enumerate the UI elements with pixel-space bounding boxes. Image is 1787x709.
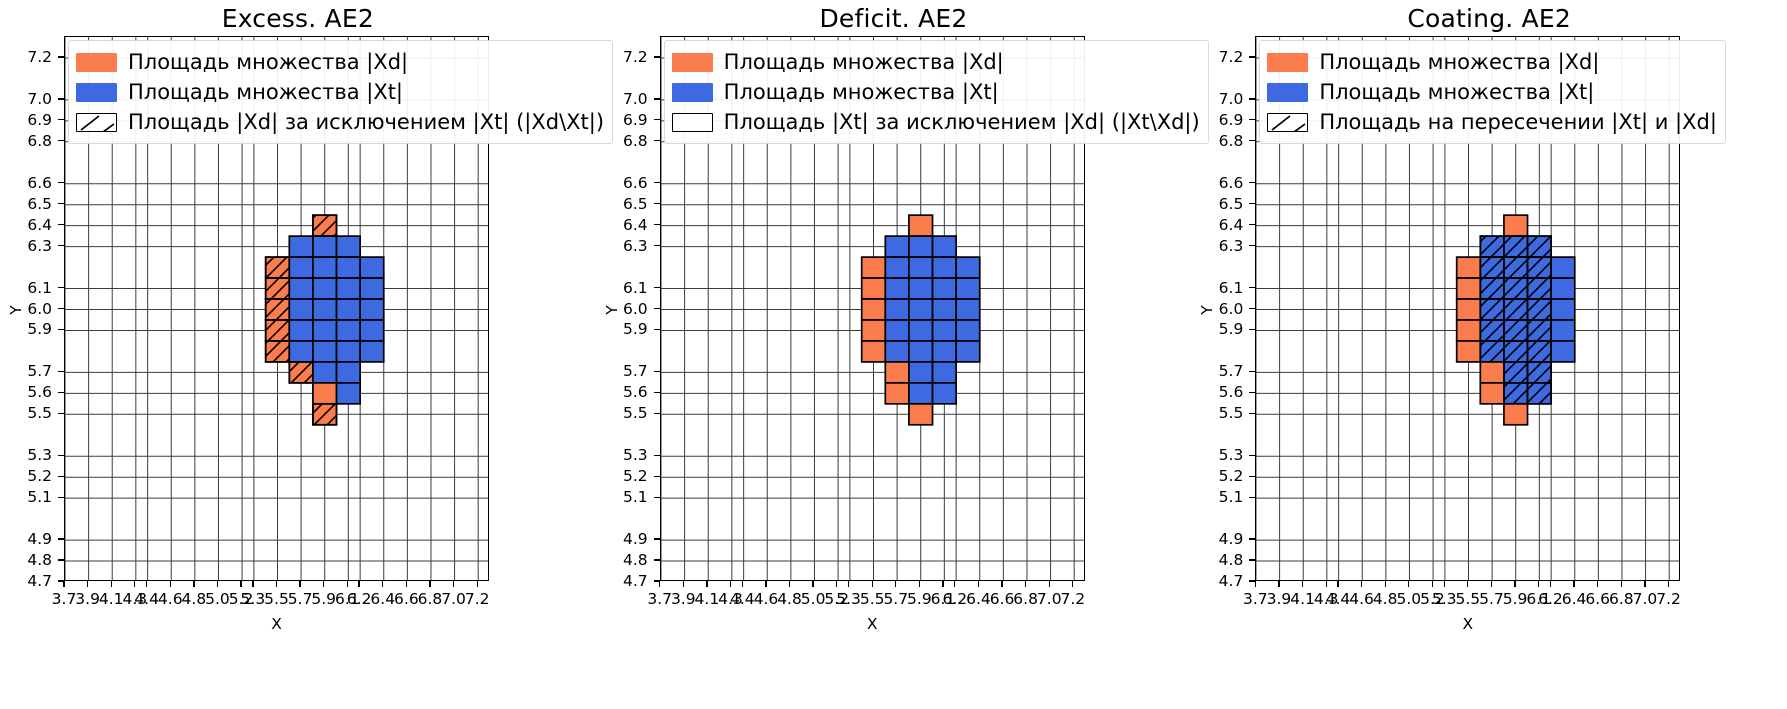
y-axis-tick-mark — [58, 203, 64, 204]
x-axis-tick-mark — [240, 581, 241, 587]
x-axis-tick-label: 4.1 — [99, 590, 124, 608]
y-axis-tick-mark — [58, 538, 64, 539]
y-axis-tick-label: 5.3 — [0, 446, 52, 464]
y-axis-tick-mark — [1249, 559, 1255, 560]
y-axis-tick-label: 6.3 — [1191, 237, 1243, 255]
x-axis-tick-mark — [217, 581, 218, 587]
y-axis-tick-mark — [654, 182, 660, 183]
y-axis-tick-label: 6.6 — [0, 174, 52, 192]
y-axis-tick-label: 6.1 — [596, 279, 648, 297]
x-axis-tick-mark — [1072, 581, 1073, 587]
y-axis-tick-mark — [654, 245, 660, 246]
y-axis-tick-label: 7.2 — [0, 48, 52, 66]
y-axis-tick-mark — [654, 98, 660, 99]
legend-hatch-swatch — [76, 113, 117, 132]
x-axis-tick-label: 4.1 — [695, 590, 720, 608]
legend: Площадь множества |Xd|Площадь множества … — [68, 40, 613, 144]
y-axis-tick-label: 7.0 — [0, 90, 52, 108]
x-axis-tick-mark — [63, 581, 64, 587]
y-axis-tick-mark — [1249, 329, 1255, 330]
y-axis-tick-label: 5.2 — [596, 467, 648, 485]
y-axis-tick-mark — [654, 203, 660, 204]
x-axis-tick-label: 5.3 — [241, 590, 266, 608]
x-axis-tick-mark — [742, 581, 743, 587]
y-axis-tick-label: 5.1 — [1191, 488, 1243, 506]
y-axis-tick-mark — [1249, 245, 1255, 246]
y-axis-tick-label: 4.9 — [596, 530, 648, 548]
legend-label: Площадь множества |Xt| — [1319, 82, 1594, 103]
x-axis-tick-label: 6.4 — [370, 590, 395, 608]
x-axis-tick-label: 6.2 — [942, 590, 967, 608]
x-axis-label: X — [257, 615, 297, 633]
y-axis-tick-mark — [58, 559, 64, 560]
y-axis-tick-label: 5.3 — [1191, 446, 1243, 464]
x-axis-tick-mark — [1491, 581, 1492, 587]
x-axis-tick-label: 4.4 — [134, 590, 159, 608]
x-axis-tick-mark — [453, 581, 454, 587]
x-axis-tick-label: 5.3 — [836, 590, 861, 608]
legend-label: Площадь множества |Xt| — [128, 82, 403, 103]
y-axis-tick-label: 6.3 — [596, 237, 648, 255]
y-axis-tick-mark — [654, 308, 660, 309]
legend-entry[interactable]: Площадь множества |Xt| — [672, 77, 1200, 107]
y-axis-tick-label: 4.7 — [0, 572, 52, 590]
y-axis-tick-label: 5.6 — [0, 383, 52, 401]
x-axis-tick-mark — [406, 581, 407, 587]
y-axis-tick-label: 4.8 — [0, 551, 52, 569]
x-axis-tick-mark — [919, 581, 920, 587]
x-axis-tick-mark — [358, 581, 359, 587]
legend-color-swatch — [672, 53, 713, 72]
x-axis-tick-mark — [1597, 581, 1598, 587]
legend-entry[interactable]: Площадь на пересечении |Xt| и |Xd| — [1267, 107, 1717, 137]
legend: Площадь множества |Xd|Площадь множества … — [664, 40, 1209, 144]
legend-label: Площадь |Xd| за исключением |Xt| (|Xd\Xt… — [128, 112, 604, 133]
y-axis-tick-mark — [654, 224, 660, 225]
x-axis-tick-mark — [134, 581, 135, 587]
x-axis-tick-label: 6.6 — [394, 590, 419, 608]
y-axis-tick-label: 7.2 — [1191, 48, 1243, 66]
legend-color-swatch — [76, 83, 117, 102]
y-axis-tick-mark — [58, 140, 64, 141]
y-axis-tick-mark — [58, 476, 64, 477]
chart-panel-2: Deficit. AE27.27.06.96.86.66.56.46.36.16… — [596, 0, 1192, 709]
x-axis-tick-mark — [812, 581, 813, 587]
x-axis-tick-label: 6.2 — [1538, 590, 1563, 608]
y-axis-tick-label: 5.6 — [596, 383, 648, 401]
x-axis-tick-mark — [1255, 581, 1256, 587]
y-axis-tick-mark — [654, 392, 660, 393]
y-axis-tick-mark — [58, 182, 64, 183]
chart-panel-1: Excess. AE27.27.06.96.86.66.56.46.36.16.… — [0, 0, 596, 709]
legend-label: Площадь на пересечении |Xt| и |Xd| — [1319, 112, 1717, 133]
y-axis-tick-mark — [58, 413, 64, 414]
y-axis-tick-label: 7.2 — [596, 48, 648, 66]
legend: Площадь множества |Xd|Площадь множества … — [1259, 40, 1726, 144]
x-axis-tick-mark — [347, 581, 348, 587]
legend-label: Площадь |Xt| за исключением |Xd| (|Xt\Xd… — [724, 112, 1200, 133]
x-axis-tick-label: 7.0 — [441, 590, 466, 608]
y-axis-tick-mark — [1249, 287, 1255, 288]
x-axis-tick-label: 4.6 — [158, 590, 183, 608]
y-axis-tick-mark — [654, 329, 660, 330]
y-axis-tick-mark — [58, 224, 64, 225]
x-axis-tick-mark — [1326, 581, 1327, 587]
x-axis-tick-label: 5.5 — [860, 590, 885, 608]
x-axis-tick-label: 5.9 — [311, 590, 336, 608]
x-axis-tick-label: 7.0 — [1633, 590, 1658, 608]
x-axis-tick-mark — [1278, 581, 1279, 587]
y-axis-tick-mark — [58, 497, 64, 498]
x-axis-tick-label: 6.8 — [1013, 590, 1038, 608]
y-axis-tick-mark — [58, 308, 64, 309]
x-axis-tick-mark — [1550, 581, 1551, 587]
x-axis-label: X — [852, 615, 892, 633]
x-axis-tick-mark — [1001, 581, 1002, 587]
x-axis-tick-label: 6.8 — [1609, 590, 1634, 608]
x-axis-tick-label: 3.9 — [75, 590, 100, 608]
figure-canvas: Excess. AE27.27.06.96.86.66.56.46.36.16.… — [0, 0, 1787, 709]
y-axis-tick-mark — [1249, 182, 1255, 183]
y-axis-tick-mark — [654, 56, 660, 57]
y-axis-tick-mark — [1249, 140, 1255, 141]
y-axis-tick-label: 5.1 — [0, 488, 52, 506]
y-axis-tick-label: 6.1 — [0, 279, 52, 297]
x-axis-tick-label: 4.1 — [1290, 590, 1315, 608]
y-axis-tick-label: 5.7 — [1191, 362, 1243, 380]
legend-entry[interactable]: Площадь множества |Xt| — [76, 77, 604, 107]
x-axis-tick-mark — [429, 581, 430, 587]
x-axis-tick-mark — [323, 581, 324, 587]
x-axis-tick-label: 3.7 — [52, 590, 77, 608]
x-axis-tick-mark — [836, 581, 837, 587]
y-axis-tick-label: 5.9 — [596, 320, 648, 338]
x-axis-tick-label: 3.7 — [1243, 590, 1268, 608]
y-axis-tick-mark — [58, 455, 64, 456]
x-axis-tick-mark — [1621, 581, 1622, 587]
y-axis-tick-mark — [1249, 203, 1255, 204]
y-axis-tick-mark — [1249, 392, 1255, 393]
x-axis-tick-label: 4.4 — [1326, 590, 1351, 608]
legend-color-swatch — [1267, 53, 1308, 72]
y-axis-tick-label: 6.4 — [0, 216, 52, 234]
y-axis-tick-label: 5.7 — [0, 362, 52, 380]
y-axis-tick-label: 4.9 — [1191, 530, 1243, 548]
x-axis-tick-mark — [789, 581, 790, 587]
y-axis-tick-mark — [1249, 224, 1255, 225]
y-axis-tick-label: 6.9 — [0, 111, 52, 129]
y-axis-tick-mark — [1249, 98, 1255, 99]
x-axis-tick-label: 6.6 — [1585, 590, 1610, 608]
x-axis-tick-mark — [683, 581, 684, 587]
panel-title: Coating. AE2 — [1191, 4, 1787, 33]
x-axis-tick-mark — [1361, 581, 1362, 587]
x-axis-tick-mark — [252, 581, 253, 587]
x-axis-tick-label: 6.6 — [990, 590, 1015, 608]
y-axis-tick-label: 7.0 — [1191, 90, 1243, 108]
legend-entry[interactable]: Площадь |Xd| за исключением |Xt| (|Xd\Xt… — [76, 107, 604, 137]
y-axis-tick-label: 5.6 — [1191, 383, 1243, 401]
x-axis-tick-mark — [1432, 581, 1433, 587]
x-axis-tick-mark — [706, 581, 707, 587]
x-axis-tick-mark — [848, 581, 849, 587]
x-axis-tick-label: 3.9 — [671, 590, 696, 608]
x-axis-tick-label: 4.8 — [777, 590, 802, 608]
y-axis-label: Y — [1198, 300, 1216, 320]
y-axis-tick-label: 4.7 — [1191, 572, 1243, 590]
x-axis-tick-label: 3.9 — [1267, 590, 1292, 608]
y-axis-tick-label: 6.3 — [0, 237, 52, 255]
y-axis-tick-mark — [654, 119, 660, 120]
legend-color-swatch — [76, 53, 117, 72]
x-axis-tick-label: 5.7 — [288, 590, 313, 608]
x-axis-tick-mark — [87, 581, 88, 587]
y-axis-tick-label: 6.1 — [1191, 279, 1243, 297]
legend-hatch-swatch — [672, 113, 713, 132]
legend-entry[interactable]: Площадь множества |Xt| — [1267, 77, 1717, 107]
x-axis-tick-mark — [954, 581, 955, 587]
panel-title: Excess. AE2 — [0, 4, 596, 33]
y-axis-tick-label: 6.9 — [596, 111, 648, 129]
y-axis-tick-mark — [1249, 538, 1255, 539]
x-axis-tick-mark — [193, 581, 194, 587]
x-axis-tick-label: 5.9 — [1503, 590, 1528, 608]
y-axis-tick-label: 5.5 — [596, 404, 648, 422]
x-axis-tick-label: 5.0 — [1396, 590, 1421, 608]
y-axis-tick-label: 4.7 — [596, 572, 648, 590]
x-axis-tick-label: 5.9 — [907, 590, 932, 608]
legend-entry[interactable]: Площадь множества |Xd| — [1267, 47, 1717, 77]
x-axis-tick-mark — [276, 581, 277, 587]
y-axis-tick-label: 4.9 — [0, 530, 52, 548]
y-axis-tick-label: 5.2 — [1191, 467, 1243, 485]
y-axis-tick-mark — [58, 371, 64, 372]
x-axis-tick-label: 7.0 — [1037, 590, 1062, 608]
y-axis-tick-mark — [58, 287, 64, 288]
y-axis-tick-mark — [1249, 455, 1255, 456]
y-axis-tick-label: 5.5 — [1191, 404, 1243, 422]
y-axis-tick-label: 5.1 — [596, 488, 648, 506]
x-axis-tick-mark — [1573, 581, 1574, 587]
legend-label: Площадь множества |Xd| — [128, 52, 408, 73]
y-axis-tick-mark — [58, 56, 64, 57]
y-axis-tick-label: 6.5 — [0, 195, 52, 213]
legend-label: Площадь множества |Xd| — [1319, 52, 1599, 73]
y-axis-tick-mark — [654, 538, 660, 539]
y-axis-tick-label: 6.6 — [1191, 174, 1243, 192]
x-axis-tick-mark — [978, 581, 979, 587]
x-axis-tick-label: 7.2 — [1656, 590, 1681, 608]
x-axis-tick-label: 4.6 — [754, 590, 779, 608]
x-axis-tick-mark — [765, 581, 766, 587]
y-axis-tick-mark — [654, 371, 660, 372]
x-axis-tick-mark — [942, 581, 943, 587]
y-axis-tick-label: 6.5 — [1191, 195, 1243, 213]
x-axis-tick-label: 4.8 — [182, 590, 207, 608]
x-axis-tick-mark — [730, 581, 731, 587]
y-axis-tick-label: 4.8 — [1191, 551, 1243, 569]
y-axis-tick-mark — [654, 559, 660, 560]
x-axis-tick-mark — [895, 581, 896, 587]
x-axis-tick-label: 5.0 — [801, 590, 826, 608]
x-axis-tick-mark — [170, 581, 171, 587]
x-axis-tick-mark — [1668, 581, 1669, 587]
y-axis-tick-label: 6.4 — [1191, 216, 1243, 234]
x-axis-tick-label: 5.7 — [883, 590, 908, 608]
y-axis-tick-mark — [1249, 119, 1255, 120]
x-axis-tick-mark — [1385, 581, 1386, 587]
x-axis-tick-mark — [1644, 581, 1645, 587]
y-axis-tick-label: 6.4 — [596, 216, 648, 234]
y-axis-tick-mark — [58, 98, 64, 99]
panel-title: Deficit. AE2 — [596, 4, 1192, 33]
y-axis-tick-label: 5.9 — [0, 320, 52, 338]
x-axis-tick-label: 4.6 — [1349, 590, 1374, 608]
legend-color-swatch — [1267, 83, 1308, 102]
y-axis-tick-label: 5.2 — [0, 467, 52, 485]
x-axis-tick-label: 6.4 — [1562, 590, 1587, 608]
y-axis-tick-mark — [654, 287, 660, 288]
x-axis-tick-mark — [1408, 581, 1409, 587]
x-axis-tick-label: 5.5 — [1456, 590, 1481, 608]
x-axis-tick-mark — [1467, 581, 1468, 587]
x-axis-tick-mark — [477, 581, 478, 587]
x-axis-tick-mark — [1514, 581, 1515, 587]
x-axis-tick-label: 5.0 — [205, 590, 230, 608]
chart-panel-3: Coating. AE27.27.06.96.86.66.56.46.36.16… — [1191, 0, 1787, 709]
y-axis-tick-mark — [1249, 476, 1255, 477]
x-axis-tick-mark — [1025, 581, 1026, 587]
x-axis-tick-mark — [659, 581, 660, 587]
y-axis-tick-label: 7.0 — [596, 90, 648, 108]
x-axis-tick-mark — [872, 581, 873, 587]
y-axis-tick-label: 5.5 — [0, 404, 52, 422]
y-axis-tick-mark — [58, 119, 64, 120]
x-axis-tick-label: 6.4 — [966, 590, 991, 608]
x-axis-label: X — [1448, 615, 1488, 633]
y-axis-tick-mark — [654, 140, 660, 141]
x-axis-tick-mark — [382, 581, 383, 587]
y-axis-tick-label: 5.3 — [596, 446, 648, 464]
x-axis-tick-mark — [111, 581, 112, 587]
y-axis-tick-label: 4.8 — [596, 551, 648, 569]
legend-color-swatch — [672, 83, 713, 102]
x-axis-tick-label: 6.2 — [347, 590, 372, 608]
x-axis-tick-mark — [1444, 581, 1445, 587]
y-axis-tick-mark — [1249, 56, 1255, 57]
x-axis-tick-label: 5.5 — [264, 590, 289, 608]
y-axis-tick-label: 5.7 — [596, 362, 648, 380]
y-axis-tick-label: 5.9 — [1191, 320, 1243, 338]
y-axis-tick-mark — [1249, 308, 1255, 309]
x-axis-tick-label: 7.2 — [465, 590, 490, 608]
legend-entry[interactable]: Площадь множества |Xd| — [672, 47, 1200, 77]
legend-entry[interactable]: Площадь |Xt| за исключением |Xd| (|Xt\Xd… — [672, 107, 1200, 137]
legend-hatch-swatch — [1267, 113, 1308, 132]
y-axis-tick-label: 6.6 — [596, 174, 648, 192]
x-axis-tick-mark — [299, 581, 300, 587]
x-axis-tick-mark — [1302, 581, 1303, 587]
y-axis-tick-label: 6.5 — [596, 195, 648, 213]
y-axis-tick-mark — [654, 413, 660, 414]
legend-entry[interactable]: Площадь множества |Xd| — [76, 47, 604, 77]
y-axis-tick-label: 6.8 — [596, 132, 648, 150]
legend-label: Площадь множества |Xt| — [724, 82, 999, 103]
y-axis-tick-label: 6.8 — [1191, 132, 1243, 150]
y-axis-tick-mark — [654, 455, 660, 456]
x-axis-tick-label: 3.7 — [647, 590, 672, 608]
x-axis-tick-mark — [1337, 581, 1338, 587]
y-axis-tick-mark — [1249, 371, 1255, 372]
y-axis-tick-mark — [654, 497, 660, 498]
y-axis-tick-mark — [1249, 497, 1255, 498]
x-axis-tick-label: 4.4 — [730, 590, 755, 608]
legend-label: Площадь множества |Xd| — [724, 52, 1004, 73]
x-axis-tick-label: 6.8 — [418, 590, 443, 608]
x-axis-tick-label: 4.8 — [1373, 590, 1398, 608]
y-axis-tick-mark — [58, 245, 64, 246]
y-axis-tick-label: 6.8 — [0, 132, 52, 150]
x-axis-tick-mark — [1538, 581, 1539, 587]
y-axis-label: Y — [603, 300, 621, 320]
x-axis-tick-mark — [146, 581, 147, 587]
y-axis-tick-mark — [58, 329, 64, 330]
x-axis-tick-label: 7.2 — [1061, 590, 1086, 608]
y-axis-tick-mark — [654, 476, 660, 477]
y-axis-label: Y — [7, 300, 25, 320]
x-axis-tick-label: 5.3 — [1432, 590, 1457, 608]
x-axis-tick-label: 5.7 — [1479, 590, 1504, 608]
y-axis-tick-label: 6.9 — [1191, 111, 1243, 129]
x-axis-tick-mark — [1049, 581, 1050, 587]
y-axis-tick-mark — [1249, 413, 1255, 414]
y-axis-tick-mark — [58, 392, 64, 393]
